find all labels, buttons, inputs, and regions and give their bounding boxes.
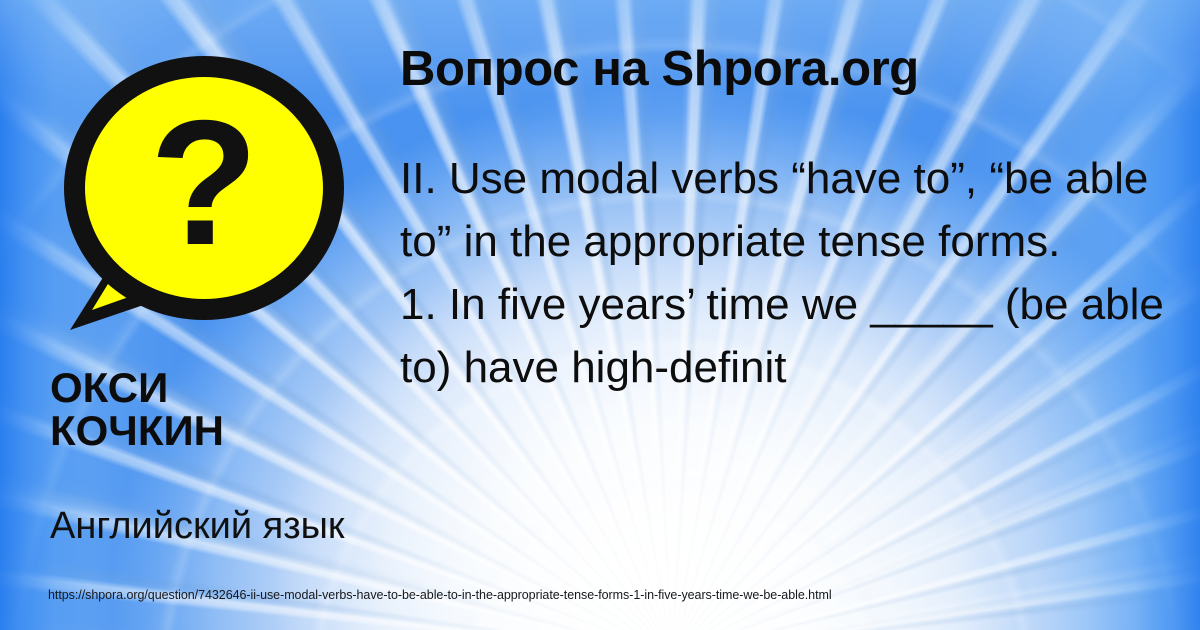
- page-title: Вопрос на Shpora.org: [400, 44, 919, 95]
- share-card: ? ОКСИ КОЧКИН Английский язык Вопрос на …: [0, 0, 1200, 630]
- question-paragraph-2: 1. In five years’ time we _____ (be able…: [400, 274, 1200, 400]
- source-url[interactable]: https://shpora.org/question/7432646-ii-u…: [48, 589, 832, 602]
- left-column: ? ОКСИ КОЧКИН Английский язык: [0, 0, 385, 630]
- question-speech-bubble-icon: ?: [52, 48, 364, 348]
- right-column: Вопрос на Shpora.org II. Use modal verbs…: [396, 0, 1200, 630]
- author-name: ОКСИ КОЧКИН: [50, 366, 380, 453]
- subject-label: Английский язык: [50, 506, 390, 548]
- question-body: II. Use modal verbs “have to”, “be able …: [400, 148, 1200, 400]
- question-paragraph-1: II. Use modal verbs “have to”, “be able …: [400, 148, 1200, 274]
- question-mark-glyph: ?: [150, 83, 259, 282]
